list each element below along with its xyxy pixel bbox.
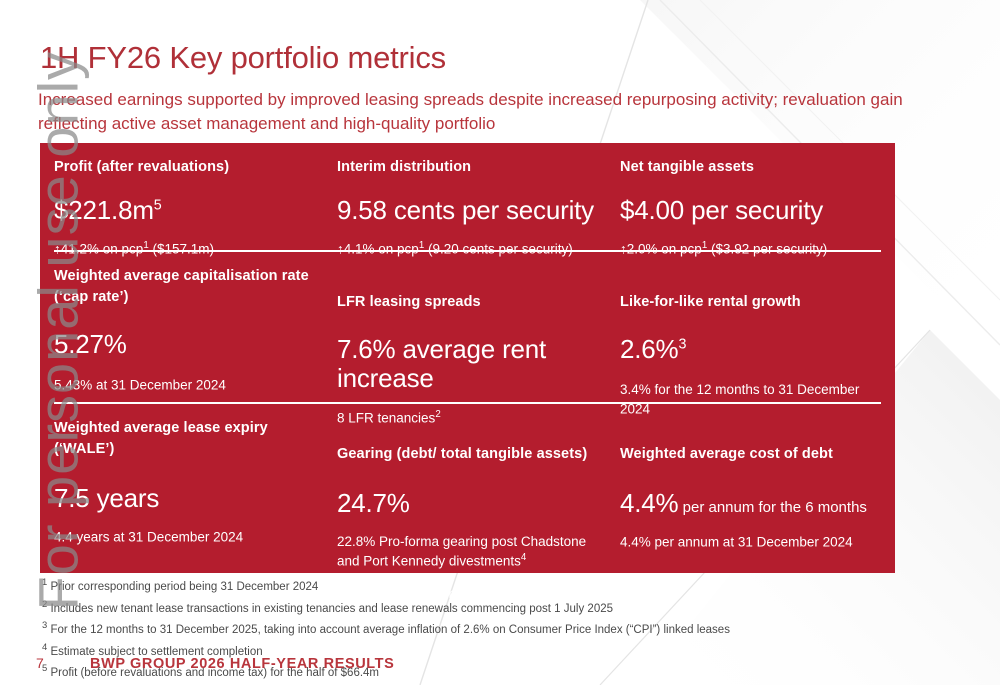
- metric-cell-cost-of-debt: Weighted average cost of debt 4.4% per a…: [620, 414, 895, 573]
- metric-subtext-main: 22.8% Pro-forma gearing post Chadstone a…: [337, 534, 586, 569]
- metric-value-text: $4.00 per security: [620, 195, 823, 225]
- metric-value-text: 2.6%: [620, 334, 678, 364]
- metric-label: Net tangible assets: [620, 157, 881, 178]
- key-metrics-panel: Profit (after revaluations) $221.8m5 ↑41…: [40, 143, 895, 573]
- metric-label: Weighted average cost of debt: [620, 444, 881, 465]
- metrics-row-3: Weighted average lease expiry (‘WALE’) 7…: [40, 404, 895, 577]
- metrics-row-2: Weighted average capitalisation rate (‘c…: [40, 252, 895, 402]
- metric-cell-net-tangible-assets: Net tangible assets $4.00 per security ↑…: [620, 153, 895, 246]
- footnote-text: Includes new tenant lease transactions i…: [47, 602, 613, 614]
- metric-label: Profit (after revaluations): [54, 157, 323, 178]
- metric-value-text: 4.4%: [620, 488, 678, 518]
- metric-value: 2.6%3: [620, 335, 881, 364]
- metric-value: 9.58 cents per security: [337, 196, 606, 225]
- metric-label: Weighted average lease expiry (‘WALE’): [54, 418, 323, 460]
- metric-subtext: 5.43% at 31 December 2024: [54, 375, 323, 395]
- metric-label: LFR leasing spreads: [337, 292, 606, 313]
- metric-value: 7.5 years: [54, 484, 323, 513]
- metric-value: 24.7%: [337, 489, 606, 518]
- metric-cell-like-for-like-rental-growth: Like-for-like rental growth 2.6%3 3.4% f…: [620, 262, 895, 398]
- metric-cell-lfr-leasing-spreads: LFR leasing spreads 7.6% average rent in…: [337, 262, 620, 398]
- metric-value: 7.6% average rent increase: [337, 335, 606, 392]
- metric-value-footnote-marker: 5: [154, 197, 162, 213]
- metric-subtext: 22.8% Pro-forma gearing post Chadstone a…: [337, 532, 606, 571]
- metric-cell-interim-distribution: Interim distribution 9.58 cents per secu…: [337, 153, 620, 246]
- personal-use-watermark: For personal use only: [26, 91, 91, 611]
- metric-value-footnote-marker: 3: [678, 336, 686, 352]
- metric-value: 4.4% per annum for the 6 months: [620, 489, 881, 518]
- metric-subtext-main: 4.4% per annum at 31 December 2024: [620, 534, 853, 549]
- metric-value: $4.00 per security: [620, 196, 881, 225]
- metric-value: 5.27%: [54, 330, 323, 359]
- metric-value-text: 7.6% average rent increase: [337, 334, 546, 393]
- page-subtitle: Increased earnings supported by improved…: [38, 88, 938, 136]
- metric-label: Interim distribution: [337, 157, 606, 178]
- slide-footer: 7 BWP GROUP 2026 HALF-YEAR RESULTS: [36, 655, 394, 672]
- metric-subtext: 4.4% per annum at 31 December 2024: [620, 532, 881, 552]
- metric-value: $221.8m5: [54, 196, 323, 225]
- metric-subtext-footnote-marker: 4: [521, 552, 526, 563]
- footnote-item: 3 For the 12 months to 31 December 2025,…: [42, 618, 802, 640]
- page-number: 7: [36, 655, 90, 671]
- footnote-text: For the 12 months to 31 December 2025, t…: [47, 624, 730, 636]
- metric-value-text: 9.58 cents per security: [337, 195, 594, 225]
- footnote-item: 2 Includes new tenant lease transactions…: [42, 597, 802, 619]
- metric-label: Weighted average capitalisation rate (‘c…: [54, 266, 323, 308]
- page-title: 1H FY26 Key portfolio metrics: [40, 40, 446, 76]
- metric-label: Like-for-like rental growth: [620, 292, 881, 313]
- deck-title: BWP GROUP 2026 HALF-YEAR RESULTS: [90, 656, 394, 672]
- metric-cell-gearing: Gearing (debt/ total tangible assets) 24…: [337, 414, 620, 573]
- metric-value-tail: per annum for the 6 months: [678, 499, 866, 516]
- metric-label: Gearing (debt/ total tangible assets): [337, 444, 606, 465]
- metric-subtext: 4.4 years at 31 December 2024: [54, 527, 323, 547]
- footnote-item: 1 Prior corresponding period being 31 De…: [42, 575, 802, 597]
- metric-value-text: 24.7%: [337, 488, 410, 518]
- metrics-row-1: Profit (after revaluations) $221.8m5 ↑41…: [40, 143, 895, 250]
